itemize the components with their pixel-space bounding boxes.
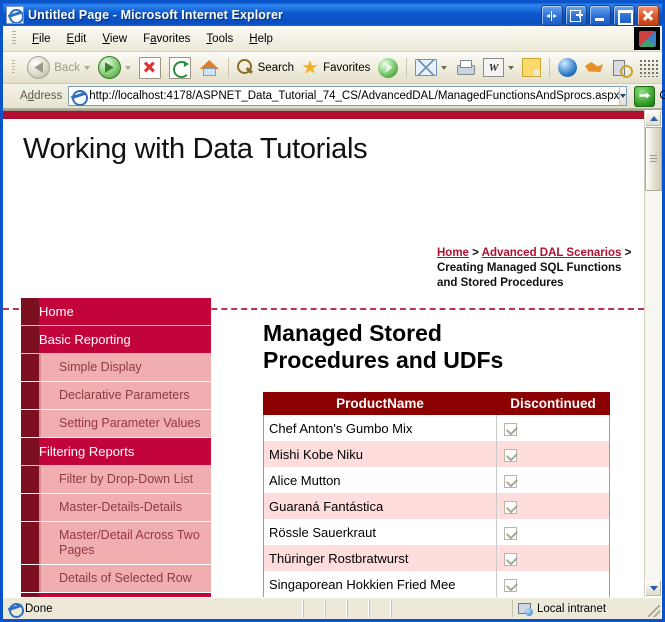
scroll-down-button[interactable] — [645, 580, 662, 597]
sidebar-item-filter-by-drop-down-list[interactable]: Filter by Drop-Down List — [39, 466, 211, 494]
restore-split-button[interactable] — [541, 5, 563, 26]
stop-icon — [139, 57, 161, 79]
sidebar-nav: Home Basic Reporting Simple Display Decl… — [21, 298, 211, 597]
window-title: Untitled Page - Microsoft Internet Explo… — [28, 8, 283, 22]
notes-button[interactable] — [518, 55, 545, 81]
title-bar: Untitled Page - Microsoft Internet Explo… — [3, 3, 662, 26]
page-title: Working with Data Tutorials — [3, 119, 644, 166]
discontinued-checkbox — [504, 449, 517, 462]
mail-icon — [415, 59, 437, 76]
status-page-icon — [8, 602, 22, 616]
messenger-button[interactable] — [581, 55, 608, 81]
favorites-label: Favorites — [323, 62, 370, 74]
menu-tools[interactable]: Tools — [198, 31, 241, 47]
browser-window: Untitled Page - Microsoft Internet Explo… — [0, 0, 665, 622]
mail-button[interactable] — [411, 55, 451, 81]
table-row: Chef Anton's Gumbo Mix — [264, 415, 610, 442]
discontinued-checkbox — [504, 553, 517, 566]
encoding-icon — [639, 59, 658, 77]
home-button[interactable] — [195, 55, 224, 81]
encoding-button[interactable] — [635, 55, 662, 81]
maximize-button[interactable] — [613, 5, 635, 26]
favorites-star-icon — [302, 59, 319, 76]
new-window-button[interactable] — [565, 5, 587, 26]
sidebar-item-details-of-selected-row[interactable]: Details of Selected Row — [39, 565, 211, 593]
search-icon — [237, 59, 254, 76]
cell-discontinued — [497, 441, 610, 467]
status-bar: Done Local intranet — [3, 597, 662, 619]
scroll-up-button[interactable] — [645, 110, 662, 127]
table-row: Alice Mutton — [264, 467, 610, 493]
table-row: Singaporean Hokkien Fried Mee — [264, 571, 610, 597]
go-label: Go — [659, 90, 665, 102]
refresh-icon — [169, 57, 191, 79]
page-viewport: Working with Data Tutorials Home > Advan… — [3, 109, 662, 597]
research-button[interactable] — [608, 55, 635, 81]
sidebar-item-setting-parameter-values[interactable]: Setting Parameter Values — [39, 410, 211, 438]
print-button[interactable] — [451, 55, 479, 81]
window-controls — [541, 5, 659, 26]
toolbar-grip-handle[interactable] — [12, 60, 15, 75]
address-bar: Address http://localhost:4178/ASPNET_Dat… — [3, 84, 662, 109]
sidebar-item-master-detail-across-two-pages[interactable]: Master/Detail Across Two Pages — [39, 522, 211, 565]
toolbar-separator-3 — [549, 58, 550, 78]
refresh-button[interactable] — [165, 55, 195, 81]
sidebar-item-master-details-details[interactable]: Master-Details-Details — [39, 494, 211, 522]
status-pane-spring — [391, 600, 512, 617]
status-message: Done — [3, 600, 303, 617]
discontinued-checkbox — [504, 501, 517, 514]
sidebar-item-home[interactable]: Home — [21, 298, 211, 326]
table-row: Guaraná Fantástica — [264, 493, 610, 519]
sidebar-item-basic-reporting[interactable]: Basic Reporting — [21, 326, 211, 354]
favorites-button[interactable]: Favorites — [298, 55, 374, 81]
print-icon — [455, 60, 475, 76]
edit-word-icon: W — [483, 58, 504, 77]
breadcrumb-sep-2: > — [621, 247, 631, 259]
cell-discontinued — [497, 467, 610, 493]
menu-grip-handle[interactable] — [12, 31, 16, 46]
history-button[interactable] — [374, 55, 402, 81]
cell-productname: Guaraná Fantástica — [264, 493, 497, 519]
breadcrumb-link-home[interactable]: Home — [437, 247, 469, 259]
menu-favorites[interactable]: Favorites — [135, 31, 198, 47]
toolbar: Back Search Favorites W — [3, 52, 662, 84]
address-url-text: http://localhost:4178/ASPNET_Data_Tutori… — [89, 90, 619, 102]
sidebar-item-filtering-reports[interactable]: Filtering Reports — [21, 438, 211, 466]
cell-discontinued — [497, 545, 610, 571]
address-label: Address — [20, 90, 62, 102]
status-pane-4 — [369, 600, 391, 617]
search-label: Search — [258, 62, 294, 74]
breadcrumb-current: Creating Managed SQL Functions and Store… — [437, 262, 621, 289]
ie-document-icon — [6, 6, 24, 24]
cell-productname: Mishi Kobe Niku — [264, 441, 497, 467]
sidebar-item-declarative-parameters[interactable]: Declarative Parameters — [39, 382, 211, 410]
status-zone-text: Local intranet — [537, 603, 606, 615]
cell-productname: Singaporean Hokkien Fried Mee — [264, 571, 497, 597]
home-icon — [199, 58, 220, 77]
address-input[interactable]: http://localhost:4178/ASPNET_Data_Tutori… — [68, 86, 619, 106]
edit-dropdown-icon[interactable] — [508, 66, 514, 70]
search-button[interactable]: Search — [233, 55, 298, 81]
cell-discontinued — [497, 519, 610, 545]
chevron-down-icon — [620, 94, 626, 98]
table-row: Rössle Sauerkraut — [264, 519, 610, 545]
toolbar-separator — [228, 58, 229, 78]
cell-discontinued — [497, 571, 610, 597]
table-body: Chef Anton's Gumbo MixMishi Kobe NikuAli… — [264, 415, 610, 598]
menu-file[interactable]: File — [24, 31, 59, 47]
cell-productname: Chef Anton's Gumbo Mix — [264, 415, 497, 442]
back-button[interactable]: Back — [23, 55, 94, 81]
globe-icon — [558, 58, 577, 77]
research-icon — [612, 59, 631, 77]
back-icon — [27, 56, 50, 79]
back-label: Back — [54, 62, 80, 74]
vertical-scrollbar[interactable] — [644, 110, 662, 597]
breadcrumb-link-advanced-dal[interactable]: Advanced DAL Scenarios — [482, 247, 622, 259]
page-icon — [71, 89, 86, 104]
table-row: Mishi Kobe Niku — [264, 441, 610, 467]
column-header-discontinued: Discontinued — [497, 393, 610, 415]
discontinued-checkbox — [504, 423, 517, 436]
status-pane-2 — [325, 600, 347, 617]
address-dropdown-button[interactable] — [619, 86, 627, 106]
breadcrumb: Home > Advanced DAL Scenarios > Creating… — [437, 246, 637, 291]
scroll-thumb[interactable] — [645, 127, 662, 191]
globe-button[interactable] — [554, 55, 581, 81]
table-header-row: ProductName Discontinued — [264, 393, 610, 415]
table-row: Thüringer Rostbratwurst — [264, 545, 610, 571]
close-button[interactable] — [637, 5, 659, 26]
discontinued-checkbox — [504, 475, 517, 488]
go-arrow-icon — [634, 86, 655, 107]
breadcrumb-sep-1: > — [469, 247, 482, 259]
cell-discontinued — [497, 493, 610, 519]
minimize-button[interactable] — [589, 5, 611, 26]
cell-productname: Rössle Sauerkraut — [264, 519, 497, 545]
page-top-band — [3, 110, 644, 119]
local-intranet-icon — [518, 602, 533, 616]
edit-button[interactable]: W — [479, 55, 518, 81]
discontinued-checkbox — [504, 527, 517, 540]
sidebar-item-simple-display[interactable]: Simple Display — [39, 354, 211, 382]
back-dropdown-icon[interactable] — [84, 66, 90, 70]
web-page: Working with Data Tutorials Home > Advan… — [3, 110, 644, 597]
menu-help[interactable]: Help — [241, 31, 281, 47]
notes-icon — [522, 58, 541, 77]
discontinued-checkbox — [504, 579, 517, 592]
scroll-track[interactable] — [645, 127, 662, 580]
column-header-productname: ProductName — [264, 393, 497, 415]
menu-view[interactable]: View — [94, 31, 135, 47]
content-heading: Managed Stored Procedures and UDFs — [263, 320, 513, 374]
ie-brand-logo-icon — [634, 27, 660, 50]
forward-button[interactable] — [94, 55, 135, 81]
go-button[interactable]: Go — [634, 86, 665, 107]
sidebar-item-customized[interactable]: Customized — [21, 593, 211, 597]
main-content: Managed Stored Procedures and UDFs Produ… — [263, 320, 628, 597]
status-pane-3 — [347, 600, 369, 617]
menu-bar: File Edit View Favorites Tools Help — [3, 26, 662, 52]
messenger-icon — [585, 59, 604, 76]
status-security-zone[interactable]: Local intranet — [512, 600, 662, 617]
forward-dropdown-icon[interactable] — [125, 66, 131, 70]
history-icon — [378, 58, 398, 78]
cell-productname: Thüringer Rostbratwurst — [264, 545, 497, 571]
status-text: Done — [25, 603, 53, 615]
products-table: ProductName Discontinued Chef Anton's Gu… — [263, 392, 610, 597]
stop-button[interactable] — [135, 55, 165, 81]
status-pane-1 — [303, 600, 325, 617]
cell-discontinued — [497, 415, 610, 442]
mail-dropdown-icon[interactable] — [441, 66, 447, 70]
cell-productname: Alice Mutton — [264, 467, 497, 493]
toolbar-separator-2 — [406, 58, 407, 78]
menu-edit[interactable]: Edit — [59, 31, 95, 47]
resize-grip[interactable] — [648, 605, 660, 617]
forward-icon — [98, 56, 121, 79]
